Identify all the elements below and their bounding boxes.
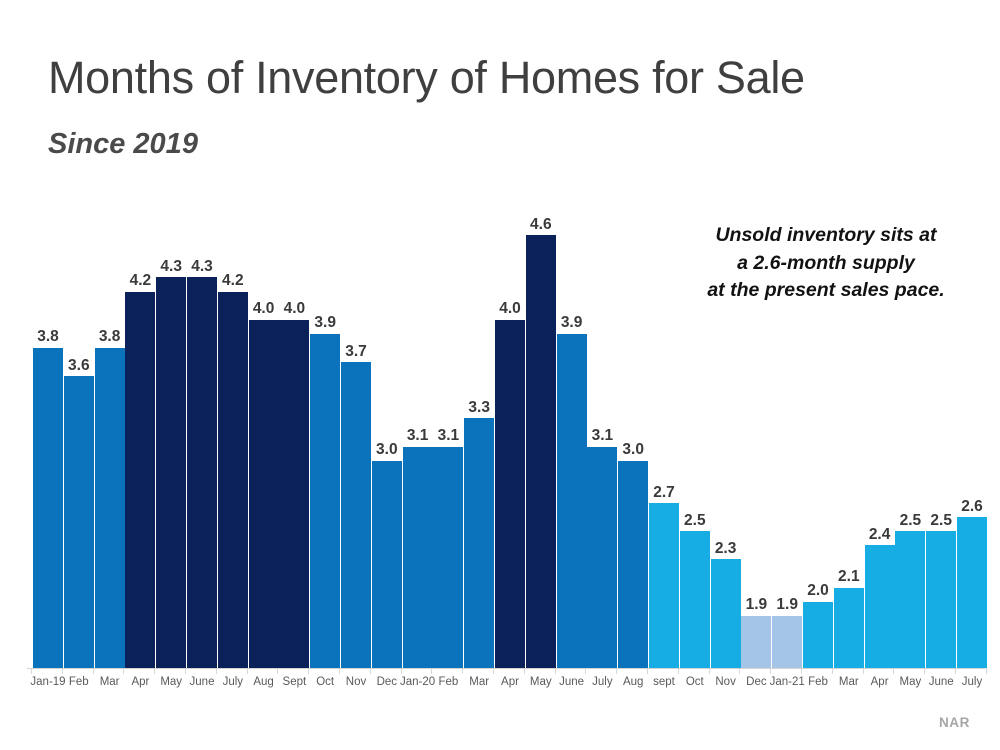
bar [557, 334, 587, 668]
x-axis-tick [555, 668, 556, 674]
x-axis-tick [123, 668, 124, 674]
bar-value-label: 3.1 [592, 428, 614, 444]
bar-value-label: 2.7 [653, 485, 675, 501]
bar [156, 277, 186, 668]
x-axis-tick [739, 668, 740, 674]
x-axis-label: July [592, 676, 612, 688]
x-axis-line [27, 668, 985, 669]
bar-value-label: 4.6 [530, 217, 552, 233]
x-axis-label: May [160, 676, 182, 688]
bar-value-label: 2.4 [869, 527, 891, 543]
x-axis-tick [31, 668, 32, 674]
bar-group: 3.6 [64, 376, 94, 668]
bar [772, 616, 802, 668]
x-axis-tick [339, 668, 340, 674]
bar-value-label: 3.1 [407, 428, 429, 444]
bar-value-label: 4.0 [284, 301, 306, 317]
bar-value-label: 3.1 [438, 428, 460, 444]
x-axis-tick [709, 668, 710, 674]
bar-value-label: 3.7 [345, 344, 367, 360]
bar [957, 517, 987, 668]
x-axis-tick [185, 668, 186, 674]
bar-group: 2.0 [803, 602, 833, 668]
bar-value-label: 4.3 [191, 259, 213, 275]
x-axis-label: Aug [253, 676, 273, 688]
bar [187, 277, 217, 668]
bar [279, 320, 309, 668]
bar-group: 2.3 [711, 559, 741, 668]
bar-group: 3.0 [618, 461, 648, 668]
x-axis-label: May [900, 676, 922, 688]
bar-value-label: 4.0 [499, 301, 521, 317]
bar-group: 3.0 [372, 461, 402, 668]
bar-value-label: 3.9 [561, 315, 583, 331]
x-axis-label: Mar [469, 676, 489, 688]
x-axis-tick [863, 668, 864, 674]
bar-group: 2.5 [895, 531, 925, 668]
x-axis-tick [585, 668, 586, 674]
bar-value-label: 2.1 [838, 569, 860, 585]
bar-value-label: 4.2 [222, 273, 244, 289]
x-axis-label: Nov [346, 676, 366, 688]
x-axis-tick [647, 668, 648, 674]
bar [433, 447, 463, 668]
bar [403, 447, 433, 668]
x-axis-label: May [530, 676, 552, 688]
bar [64, 376, 94, 668]
x-axis-tick [216, 668, 217, 674]
x-axis-label: Feb [808, 676, 828, 688]
x-axis-label: Jan-21 [770, 676, 805, 688]
bar [526, 235, 556, 668]
bar-value-label: 3.8 [99, 329, 121, 345]
bar-value-label: 2.5 [684, 513, 706, 529]
bar-group: 4.2 [125, 292, 155, 668]
bar-group: 1.9 [741, 616, 771, 668]
bar [587, 447, 617, 668]
bar-group: 2.1 [834, 588, 864, 668]
x-axis-label: Jan-19 [30, 676, 65, 688]
bar-value-label: 4.0 [253, 301, 275, 317]
x-axis-label: Dec [377, 676, 397, 688]
bar-group: 3.7 [341, 362, 371, 668]
x-axis-tick [770, 668, 771, 674]
bar-value-label: 2.6 [961, 499, 983, 515]
x-axis-tick [62, 668, 63, 674]
bar-group: 3.8 [95, 348, 125, 668]
x-axis-tick [370, 668, 371, 674]
bar [495, 320, 525, 668]
x-axis-tick [678, 668, 679, 674]
bar-value-label: 3.0 [376, 442, 398, 458]
bar [125, 292, 155, 668]
bar-value-label: 3.6 [68, 358, 90, 374]
bar-group: 4.0 [249, 320, 279, 668]
x-axis-label: Feb [69, 676, 89, 688]
x-axis-label: sept [653, 676, 675, 688]
bar [834, 588, 864, 668]
bar-group: 3.9 [310, 334, 340, 668]
bar [865, 545, 895, 668]
bar-group: 3.1 [403, 447, 433, 668]
x-axis-tick [924, 668, 925, 674]
x-axis-label: Nov [715, 676, 735, 688]
x-axis-tick [616, 668, 617, 674]
bar-group: 2.5 [926, 531, 956, 668]
bar-group: 1.9 [772, 616, 802, 668]
bar-group: 2.6 [957, 517, 987, 668]
bar [926, 531, 956, 668]
bar-value-label: 3.0 [622, 442, 644, 458]
bar-group: 3.8 [33, 348, 63, 668]
bar [218, 292, 248, 668]
x-axis-tick [462, 668, 463, 674]
bar [372, 461, 402, 668]
x-axis-tick [493, 668, 494, 674]
bar-group: 3.1 [433, 447, 463, 668]
bar-value-label: 2.5 [930, 513, 952, 529]
x-axis-tick [308, 668, 309, 674]
x-axis-label: June [190, 676, 215, 688]
x-axis-label: Jan-20 [400, 676, 435, 688]
bar-group: 3.1 [587, 447, 617, 668]
bar-value-label: 2.3 [715, 541, 737, 557]
bar-value-label: 1.9 [776, 597, 798, 613]
bar [649, 503, 679, 668]
chart-page: Months of Inventory of Homes for Sale Si… [0, 0, 1000, 750]
x-axis-tick [93, 668, 94, 674]
x-axis-tick [524, 668, 525, 674]
bar-group: 4.3 [187, 277, 217, 668]
x-axis-tick [832, 668, 833, 674]
x-axis-label: June [559, 676, 584, 688]
x-axis-tick [431, 668, 432, 674]
x-axis-label: Apr [131, 676, 149, 688]
bar [464, 418, 494, 668]
bar [618, 461, 648, 668]
bar-value-label: 3.3 [468, 400, 490, 416]
x-axis-tick [986, 668, 987, 674]
x-axis-tick [247, 668, 248, 674]
x-axis-label: Oct [316, 676, 334, 688]
x-axis-tick [955, 668, 956, 674]
x-axis-label: Apr [871, 676, 889, 688]
x-axis-tick [277, 668, 278, 674]
bar [310, 334, 340, 668]
x-axis-label: Dec [746, 676, 766, 688]
x-axis-tick [801, 668, 802, 674]
bar [741, 616, 771, 668]
x-axis-label: July [223, 676, 243, 688]
bar-value-label: 2.0 [807, 583, 829, 599]
bar [803, 602, 833, 668]
x-axis-label: Oct [686, 676, 704, 688]
x-axis-label: Mar [100, 676, 120, 688]
x-axis-label: Mar [839, 676, 859, 688]
bar-value-label: 3.9 [314, 315, 336, 331]
bar-group: 3.9 [557, 334, 587, 668]
bar-chart-plot: 3.8Jan-193.6Feb3.8Mar4.2Apr4.3May4.3June… [0, 0, 1000, 750]
x-axis-label: July [962, 676, 982, 688]
bar [680, 531, 710, 668]
bar [711, 559, 741, 668]
bar-group: 2.5 [680, 531, 710, 668]
bar-value-label: 3.8 [37, 329, 59, 345]
x-axis-label: Aug [623, 676, 643, 688]
x-axis-label: Sept [283, 676, 307, 688]
bar-group: 2.4 [865, 545, 895, 668]
bar-group: 4.2 [218, 292, 248, 668]
x-axis-tick [154, 668, 155, 674]
bar-value-label: 2.5 [900, 513, 922, 529]
x-axis-tick [401, 668, 402, 674]
bar [895, 531, 925, 668]
bar-group: 4.0 [495, 320, 525, 668]
bar-group: 4.3 [156, 277, 186, 668]
x-axis-label: June [929, 676, 954, 688]
source-label: NAR [939, 715, 970, 730]
bar-group: 4.0 [279, 320, 309, 668]
bar [341, 362, 371, 668]
bar [33, 348, 63, 668]
bar-group: 2.7 [649, 503, 679, 668]
x-axis-label: Feb [438, 676, 458, 688]
bar-group: 3.3 [464, 418, 494, 668]
bar-value-label: 4.2 [130, 273, 152, 289]
bar-group: 4.6 [526, 235, 556, 668]
bar-value-label: 1.9 [746, 597, 768, 613]
bar [249, 320, 279, 668]
x-axis-tick [893, 668, 894, 674]
bar [95, 348, 125, 668]
x-axis-label: Apr [501, 676, 519, 688]
bar-value-label: 4.3 [160, 259, 182, 275]
